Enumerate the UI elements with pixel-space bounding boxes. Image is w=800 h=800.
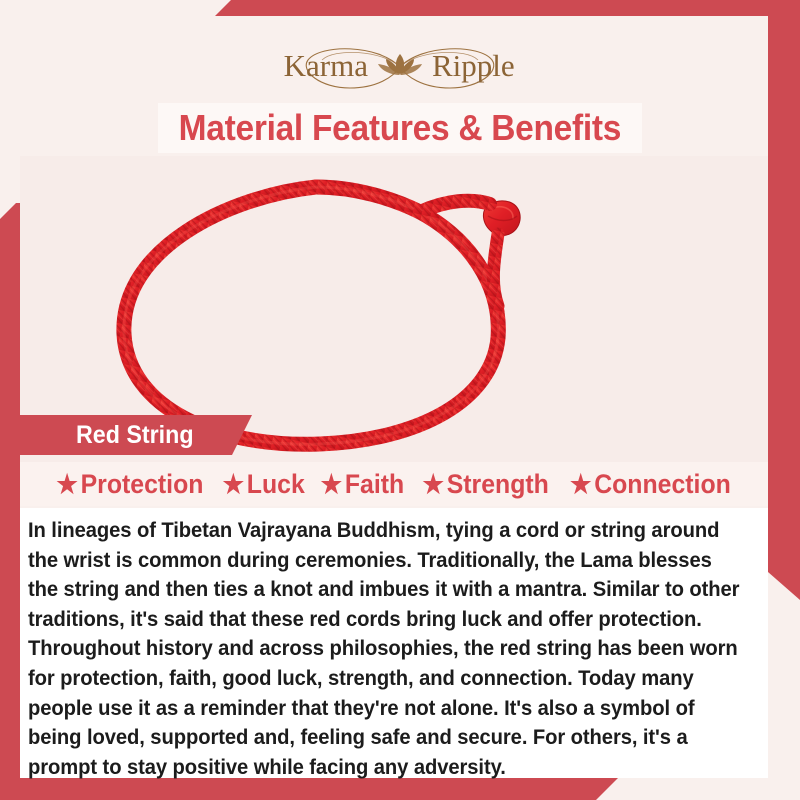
benefit-item-strength: ★ Strength: [422, 469, 548, 500]
benefit-label: Faith: [345, 469, 404, 500]
brand-word-right: Ripple: [432, 48, 515, 83]
benefit-item-connection: ★ Connection: [570, 469, 731, 500]
brand-logo-graphic: Karma Ripple: [250, 38, 550, 96]
description-text: In lineages of Tibetan Vajrayana Buddhis…: [28, 516, 741, 782]
benefit-label: Connection: [594, 469, 731, 500]
product-name-banner: Red String: [20, 415, 252, 455]
frame-accent-top: [215, 0, 800, 16]
benefits-row: ★ Protection ★ Luck ★ Faith ★ Strength ★…: [20, 462, 768, 506]
product-feature-poster: Karma Ripple Material Features & Benefit…: [0, 0, 800, 800]
description-block: In lineages of Tibetan Vajrayana Buddhis…: [20, 508, 768, 778]
benefit-label: Protection: [81, 469, 204, 500]
benefit-item-protection: ★ Protection: [56, 469, 203, 500]
brand-word-left: Karma: [284, 48, 369, 83]
benefit-item-luck: ★ Luck: [222, 469, 304, 500]
frame-accent-right: [768, 0, 800, 600]
page-title-band: Material Features & Benefits: [158, 103, 642, 153]
benefit-label: Luck: [247, 469, 305, 500]
benefit-item-faith: ★ Faith: [321, 469, 405, 500]
frame-accent-left: [0, 203, 20, 800]
star-icon: ★: [422, 471, 443, 497]
page-title: Material Features & Benefits: [179, 107, 621, 149]
benefit-label: Strength: [447, 469, 549, 500]
product-name-label: Red String: [76, 421, 194, 450]
star-icon: ★: [321, 471, 342, 497]
brand-logo: Karma Ripple: [0, 38, 800, 101]
star-icon: ★: [222, 471, 243, 497]
star-icon: ★: [570, 471, 591, 497]
star-icon: ★: [56, 471, 77, 497]
